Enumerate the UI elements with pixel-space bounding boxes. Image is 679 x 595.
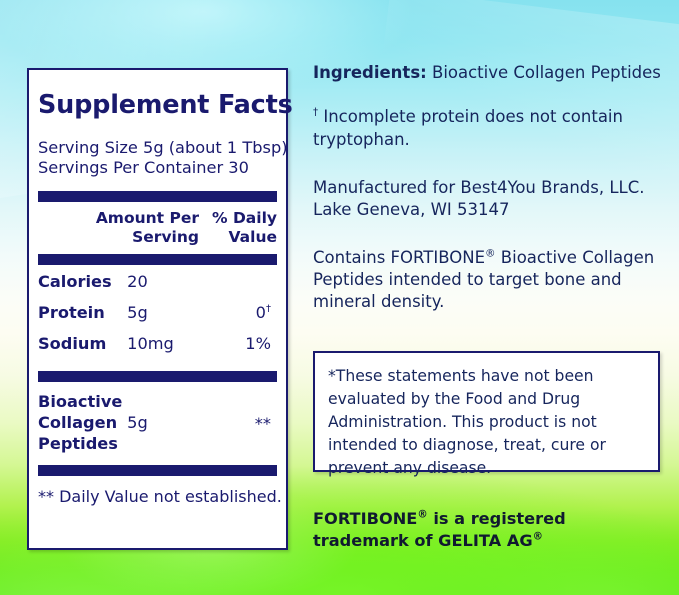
dagger-footnote-text: Incomplete protein does not contain tryp… [313,107,623,149]
ingredients-value: Bioactive Collagen Peptides [432,63,661,82]
bioactive-name-line3: Peptides [38,433,127,454]
nutrient-daily-value: 0† [210,303,277,322]
fda-disclaimer-box: *These statements have not been evaluate… [313,351,660,472]
bioactive-name-line1: Bioactive [38,391,127,412]
amount-header-line1: Amount Per [87,209,199,228]
nutrient-amount: 20 [127,272,209,291]
nutrient-daily-value: 1% [210,334,277,353]
amount-per-serving-header: Amount Per Serving [87,209,205,247]
daily-header-line2: Value [205,228,277,247]
manufacturer-info: Manufactured for Best4You Brands, LLC. L… [313,177,665,221]
bioactive-name-line2: Collagen [38,412,127,433]
table-row: Calories 20 [38,272,277,303]
ingredients-label: Ingredients: [313,63,427,82]
dagger-footnote: † Incomplete protein does not contain tr… [313,105,665,151]
table-row: Sodium 10mg 1% [38,334,277,365]
nutrient-name: Calories [38,272,127,291]
daily-value-footnote: ** Daily Value not established. [38,476,277,506]
dagger-superscript: † [266,304,271,315]
registered-trademark-icon-gelita: ® [533,531,543,543]
bioactive-name: Bioactive Collagen Peptides [38,391,127,454]
right-info-column: Ingredients: Bioactive Collagen Peptides… [313,62,665,313]
protein-dv-value: 0 [256,303,266,322]
fda-disclaimer-text: *These statements have not been evaluate… [328,367,606,477]
serving-size-line: Serving Size 5g (about 1 Tbsp) [38,138,277,158]
divider-bar-header [38,254,277,265]
servings-per-container-line: Servings Per Container 30 [38,158,277,178]
column-headers: Amount Per Serving % Daily Value [38,202,277,254]
nutrient-amount: 10mg [127,334,209,353]
supplement-facts-panel: Supplement Facts Serving Size 5g (about … [27,68,288,550]
fortibone-description: Contains FORTIBONE® Bioactive Collagen P… [313,247,665,313]
divider-bar-middle [38,371,277,382]
bioactive-amount: 5g [127,391,209,433]
trademark-brand: FORTIBONE [313,509,417,528]
manufacturer-line2: Lake Geneva, WI 53147 [313,199,665,221]
daily-value-header: % Daily Value [205,209,277,247]
ingredients-line: Ingredients: Bioactive Collagen Peptides [313,62,665,83]
divider-bar-bottom [38,465,277,476]
registered-trademark-icon: ® [485,248,496,260]
nutrient-name: Protein [38,303,127,322]
dagger-icon: † [313,108,318,119]
table-row-bioactive-collagen-peptides: Bioactive Collagen Peptides 5g ** [38,382,277,465]
bioactive-daily-value: ** [210,391,277,433]
trademark-notice: FORTIBONE® is a registered trademark of … [313,508,665,552]
daily-header-line1: % Daily [205,209,277,228]
nutrient-rows: Calories 20 Protein 5g 0† Sodium 10mg 1% [38,265,277,371]
divider-bar-top [38,191,277,202]
nutrient-name: Sodium [38,334,127,353]
registered-trademark-icon-brand: ® [417,509,427,521]
table-row: Protein 5g 0† [38,303,277,334]
serving-info: Serving Size 5g (about 1 Tbsp) Servings … [38,138,277,178]
fortibone-description-pre: Contains FORTIBONE [313,248,485,267]
manufacturer-line1: Manufactured for Best4You Brands, LLC. [313,177,665,199]
page-title: Supplement Facts [38,90,277,120]
nutrient-amount: 5g [127,303,209,322]
amount-header-line2: Serving [87,228,199,247]
